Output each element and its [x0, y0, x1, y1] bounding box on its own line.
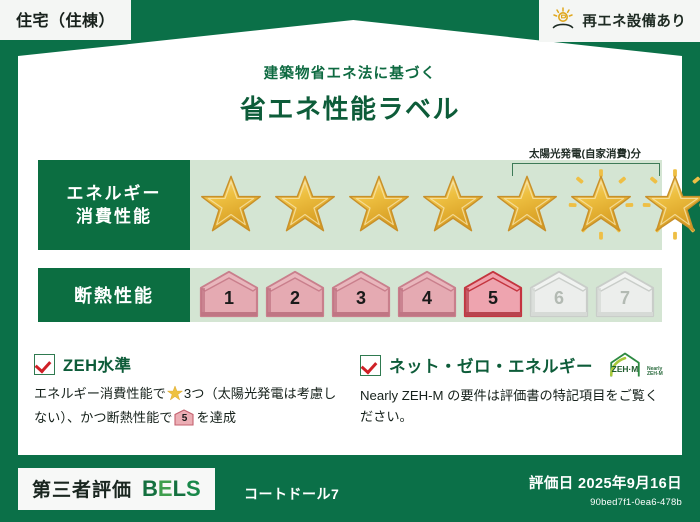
footer: 第三者評価 BELS コートドール7 評価日 2025年9月16日 90bed7…	[0, 460, 700, 522]
label-subtitle: 建築物省エネ法に基づく	[0, 62, 700, 83]
evaluation-date: 評価日 2025年9月16日	[529, 472, 682, 493]
dwelling-type-tag: 住宅（住棟）	[0, 0, 131, 40]
insulation-badge-value: 3	[356, 288, 366, 309]
insulation-badge-value: 6	[554, 288, 564, 309]
bels-logo: BELS	[142, 476, 201, 502]
note-zeh-text-part3: を達成	[196, 410, 236, 425]
note-zeh-standard-title: ZEH水準	[63, 352, 132, 376]
zeh-m-sub-line2: ZEH-M	[647, 371, 663, 377]
project-name: コートドール7	[244, 484, 339, 504]
note-zeh-standard: ZEH水準 エネルギー消費性能で3つ（太陽光発電は考慮しない）、かつ断熱性能で5…	[34, 352, 344, 429]
bels-certification-box: 第三者評価 BELS	[18, 468, 215, 510]
insulation-badge-4: 4	[394, 268, 460, 322]
page-title: 省エネ性能ラベル	[0, 89, 700, 126]
insulation-row-label: 断熱性能	[38, 268, 190, 322]
star-icon-inline	[167, 385, 183, 407]
note-net-zero-energy: ネット・ゼロ・エネルギー ZEH·M Nearly ZEH-M Nearly Z…	[344, 352, 670, 429]
zeh-m-logo: ZEH·M Nearly ZEH-M	[605, 352, 663, 378]
bels-letter-s: S	[186, 476, 201, 501]
note-zeh-standard-body: エネルギー消費性能で3つ（太陽光発電は考慮しない）、かつ断熱性能で5を達成	[34, 383, 344, 429]
insulation-badge-value: 1	[224, 288, 234, 309]
star-3	[342, 160, 416, 250]
insulation-badge-value: 4	[422, 288, 432, 309]
note-zeh-text-part1: エネルギー消費性能で	[34, 386, 166, 401]
energy-performance-label: 住宅（住棟） 再エネ設備あり 建築物省エネ法に基づく 省エネ性能ラベル 太陽	[0, 0, 700, 522]
solar-annotation-text: 太陽光発電(自家消費)分	[505, 146, 665, 161]
insulation-badge-5: 5	[460, 268, 526, 322]
svg-text:ZEH·M: ZEH·M	[612, 364, 639, 374]
insulation-badge-2: 2	[262, 268, 328, 322]
energy-row-label: エネルギー 消費性能	[38, 160, 190, 250]
bels-letter-e: E	[158, 476, 173, 501]
evaluation-id: 90bed7f1-0ea6-478b	[529, 497, 682, 508]
bels-letter-l: L	[173, 476, 186, 501]
energy-row-label-line2: 消費性能	[76, 205, 152, 228]
note-net-zero-header: ネット・ゼロ・エネルギー ZEH·M Nearly ZEH-M	[360, 352, 670, 378]
zeh-m-logo-subtext: Nearly ZEH-M	[647, 367, 663, 379]
insulation-row-body: 1234567	[190, 268, 662, 322]
insulation-badge-7: 7	[592, 268, 658, 322]
checkmark-icon	[34, 354, 55, 375]
insulation-badge-3: 3	[328, 268, 394, 322]
insulation-performance-row: 断熱性能 1234567	[38, 268, 662, 322]
third-party-eval-label: 第三者評価	[32, 475, 132, 502]
zeh-m-house-icon: ZEH·M	[605, 352, 645, 378]
renewable-badge-label: 再エネ設備あり	[582, 10, 686, 31]
renewable-equipment-badge: 再エネ設備あり	[539, 0, 700, 42]
star-4	[416, 160, 490, 250]
energy-row-label-line1: エネルギー	[67, 182, 162, 205]
sun-icon	[551, 7, 575, 34]
footer-eval-info: 評価日 2025年9月16日 90bed7f1-0ea6-478b	[529, 472, 682, 508]
note-zeh-standard-header: ZEH水準	[34, 352, 344, 376]
bels-letter-b: B	[142, 476, 158, 501]
title-block: 建築物省エネ法に基づく 省エネ性能ラベル	[0, 62, 700, 126]
insulation-badge-1: 1	[196, 268, 262, 322]
insulation-badge-value: 2	[290, 288, 300, 309]
star-1	[194, 160, 268, 250]
notes-block: ZEH水準 エネルギー消費性能で3つ（太陽光発電は考慮しない）、かつ断熱性能で5…	[34, 352, 670, 429]
checkmark-icon	[360, 355, 381, 376]
insulation-badge-group: 1234567	[190, 268, 662, 322]
solar-annotation-bracket	[512, 163, 660, 176]
insulation-badge-inline-value: 5	[174, 411, 194, 427]
insulation-badge-value: 5	[488, 288, 498, 309]
insulation-badge-inline: 5	[174, 409, 194, 426]
insulation-badge-value: 7	[620, 288, 630, 309]
note-net-zero-title: ネット・ゼロ・エネルギー	[389, 353, 593, 377]
note-net-zero-body: Nearly ZEH-M の要件は評価書の特記項目をご覧ください。	[360, 385, 670, 428]
insulation-badge-6: 6	[526, 268, 592, 322]
star-2	[268, 160, 342, 250]
